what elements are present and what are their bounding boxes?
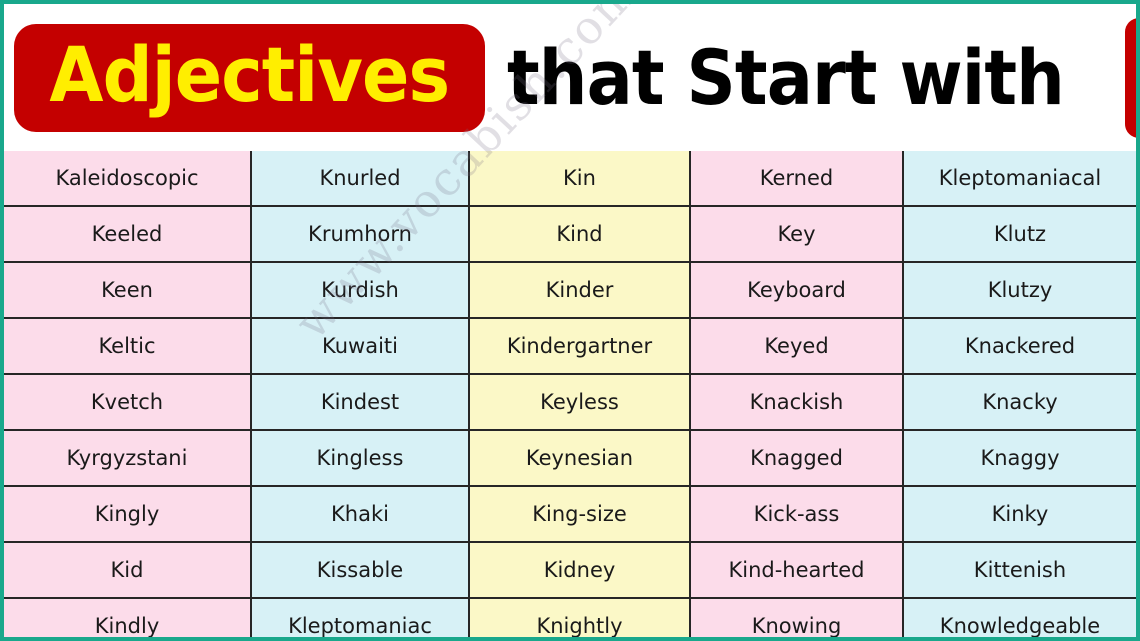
word-cell: Khaki bbox=[251, 486, 469, 542]
table-row: Keeled Krumhorn Kind Key Klutz bbox=[4, 206, 1136, 262]
word-cell: Klutz bbox=[903, 206, 1136, 262]
word-cell: Knaggy bbox=[903, 430, 1136, 486]
word-cell: Kin bbox=[469, 151, 690, 206]
word-table: Kaleidoscopic Knurled Kin Kerned Kleptom… bbox=[4, 151, 1136, 641]
letter-badge-label: K bbox=[1135, 43, 1140, 113]
table-row: Keltic Kuwaiti Kindergartner Keyed Knack… bbox=[4, 318, 1136, 374]
word-cell: Keyless bbox=[469, 374, 690, 430]
poster-page: Adjectives that Start with K www.vocabis… bbox=[0, 0, 1140, 641]
title-badge-label: Adjectives bbox=[49, 37, 449, 113]
word-cell: Knowledgeable bbox=[903, 598, 1136, 641]
word-table-body: Kaleidoscopic Knurled Kin Kerned Kleptom… bbox=[4, 151, 1136, 641]
word-cell: King-size bbox=[469, 486, 690, 542]
word-cell: Knackish bbox=[690, 374, 903, 430]
table-row: Kvetch Kindest Keyless Knackish Knacky bbox=[4, 374, 1136, 430]
letter-badge: K bbox=[1125, 18, 1140, 138]
word-cell: Kleptomaniacal bbox=[903, 151, 1136, 206]
table-row: Keen Kurdish Kinder Keyboard Klutzy bbox=[4, 262, 1136, 318]
word-cell: Kissable bbox=[251, 542, 469, 598]
word-cell: Kind bbox=[469, 206, 690, 262]
table-row: Kid Kissable Kidney Kind-hearted Kitteni… bbox=[4, 542, 1136, 598]
word-cell: Krumhorn bbox=[251, 206, 469, 262]
word-cell: Kindly bbox=[4, 598, 251, 641]
word-cell: Kvetch bbox=[4, 374, 251, 430]
table-row: Kingly Khaki King-size Kick-ass Kinky bbox=[4, 486, 1136, 542]
word-cell: Knagged bbox=[690, 430, 903, 486]
word-cell: Knackered bbox=[903, 318, 1136, 374]
word-cell: Kaleidoscopic bbox=[4, 151, 251, 206]
word-cell: Kingly bbox=[4, 486, 251, 542]
word-cell: Key bbox=[690, 206, 903, 262]
poster-header: Adjectives that Start with K bbox=[4, 4, 1136, 151]
word-cell: Kleptomaniac bbox=[251, 598, 469, 641]
word-cell: Keltic bbox=[4, 318, 251, 374]
word-cell: Kindest bbox=[251, 374, 469, 430]
table-row: Kindly Kleptomaniac Knightly Knowing Kno… bbox=[4, 598, 1136, 641]
word-cell: Keyboard bbox=[690, 262, 903, 318]
word-cell: Kinder bbox=[469, 262, 690, 318]
word-cell: Klutzy bbox=[903, 262, 1136, 318]
word-cell: Knightly bbox=[469, 598, 690, 641]
word-cell: Keen bbox=[4, 262, 251, 318]
table-row: Kyrgyzstani Kingless Keynesian Knagged K… bbox=[4, 430, 1136, 486]
word-cell: Kind-hearted bbox=[690, 542, 903, 598]
title-rest-label: that Start with bbox=[507, 40, 1064, 116]
word-cell: Kurdish bbox=[251, 262, 469, 318]
word-cell: Kick-ass bbox=[690, 486, 903, 542]
word-cell: Kidney bbox=[469, 542, 690, 598]
word-cell: Knurled bbox=[251, 151, 469, 206]
word-cell: Kyrgyzstani bbox=[4, 430, 251, 486]
word-cell: Knacky bbox=[903, 374, 1136, 430]
title-highlight-badge: Adjectives bbox=[14, 24, 485, 132]
word-cell: Kinky bbox=[903, 486, 1136, 542]
word-cell: Keyed bbox=[690, 318, 903, 374]
word-cell: Knowing bbox=[690, 598, 903, 641]
word-cell: Keeled bbox=[4, 206, 251, 262]
word-cell: Kittenish bbox=[903, 542, 1136, 598]
word-cell: Kid bbox=[4, 542, 251, 598]
word-cell: Kerned bbox=[690, 151, 903, 206]
word-cell: Keynesian bbox=[469, 430, 690, 486]
table-row: Kaleidoscopic Knurled Kin Kerned Kleptom… bbox=[4, 151, 1136, 206]
word-cell: Kingless bbox=[251, 430, 469, 486]
word-cell: Kindergartner bbox=[469, 318, 690, 374]
word-cell: Kuwaiti bbox=[251, 318, 469, 374]
